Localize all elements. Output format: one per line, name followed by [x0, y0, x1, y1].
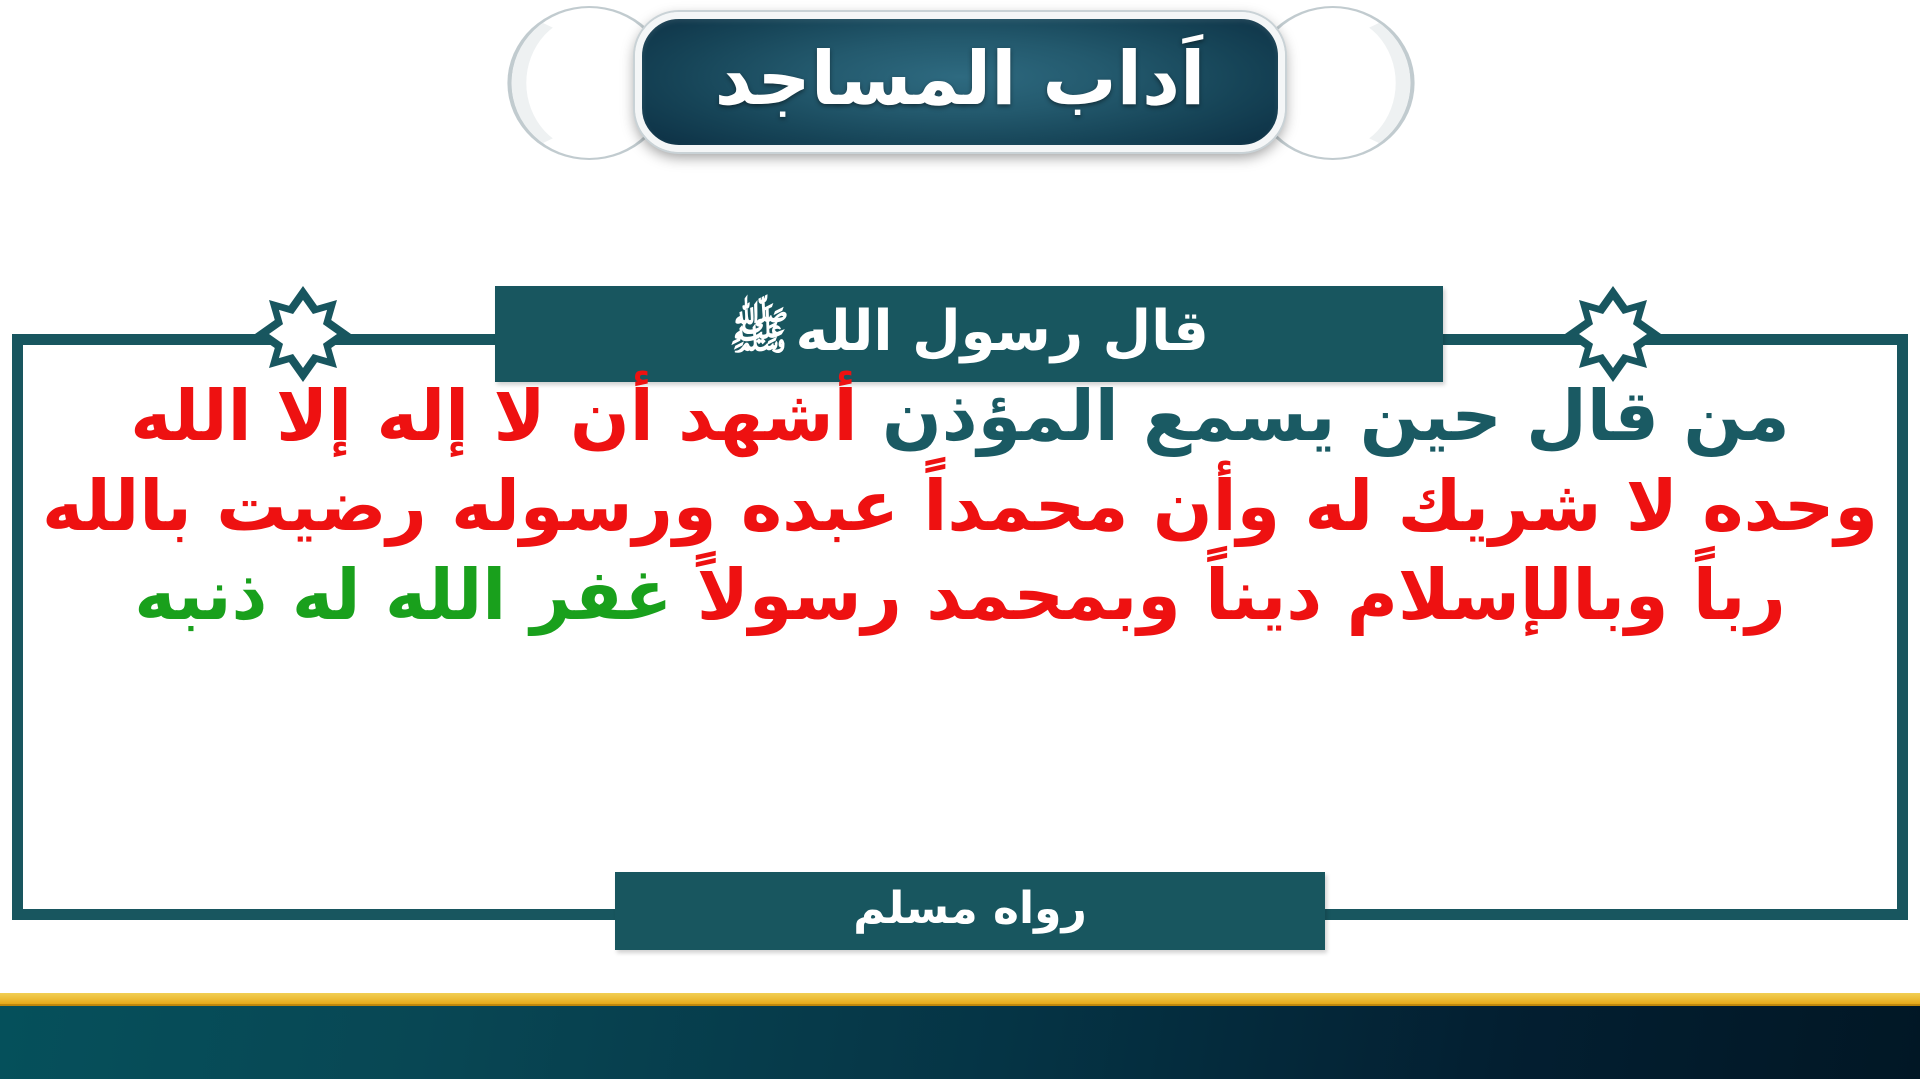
- star-inner-hole: [269, 300, 337, 368]
- gold-accent-bar: [0, 993, 1920, 1006]
- page-title: اَداب المساجد: [715, 42, 1206, 116]
- hadith-line-1-segment-2: أشهد أن لا إله إلا الله: [130, 375, 857, 457]
- title-plaque: اَداب المساجد: [635, 12, 1285, 152]
- footer-bar: [0, 1006, 1920, 1079]
- hadith-body: من قال حين يسمع المؤذن أشهد أن لا إله إل…: [30, 372, 1890, 852]
- hadith-line-3-segment-1: رباً وبالإسلام ديناً وبمحمد رسولاً: [672, 554, 1785, 636]
- hadith-source-band: رواه مسلم: [615, 872, 1325, 950]
- hadith-line-1: من قال حين يسمع المؤذن أشهد أن لا إله إل…: [30, 372, 1890, 462]
- eight-pointed-star-right-icon: [1565, 286, 1661, 382]
- star-inner-hole: [1579, 300, 1647, 368]
- title-area: اَداب المساجد: [0, 0, 1920, 200]
- hadith-attribution-header: قال رسول اللهﷺ: [495, 286, 1443, 382]
- hadith-line-3: رباً وبالإسلام ديناً وبمحمد رسولاً غفر ا…: [30, 551, 1890, 641]
- hadith-line-1-segment-1: من قال حين يسمع المؤذن: [858, 375, 1790, 457]
- hadith-line-3-segment-2: غفر الله له ذنبه: [134, 554, 672, 636]
- header-prefix-text: قال رسول اللهﷺ: [729, 304, 1209, 360]
- header-prefix-label: قال رسول الله: [796, 299, 1209, 364]
- poster-canvas: اَداب المساجد قال رسول اللهﷺ من قال حين …: [0, 0, 1920, 1079]
- eight-pointed-star-left-icon: [255, 286, 351, 382]
- hadith-line-2: وحده لا شريك له وأن محمداً عبده ورسوله ر…: [30, 462, 1890, 552]
- hadith-line-2-segment-1: وحده لا شريك له وأن محمداً عبده ورسوله ر…: [42, 465, 1878, 547]
- hadith-source-label: رواه مسلم: [853, 887, 1087, 931]
- sallallahu-alayhi-wasallam-icon: ﷺ: [729, 306, 789, 356]
